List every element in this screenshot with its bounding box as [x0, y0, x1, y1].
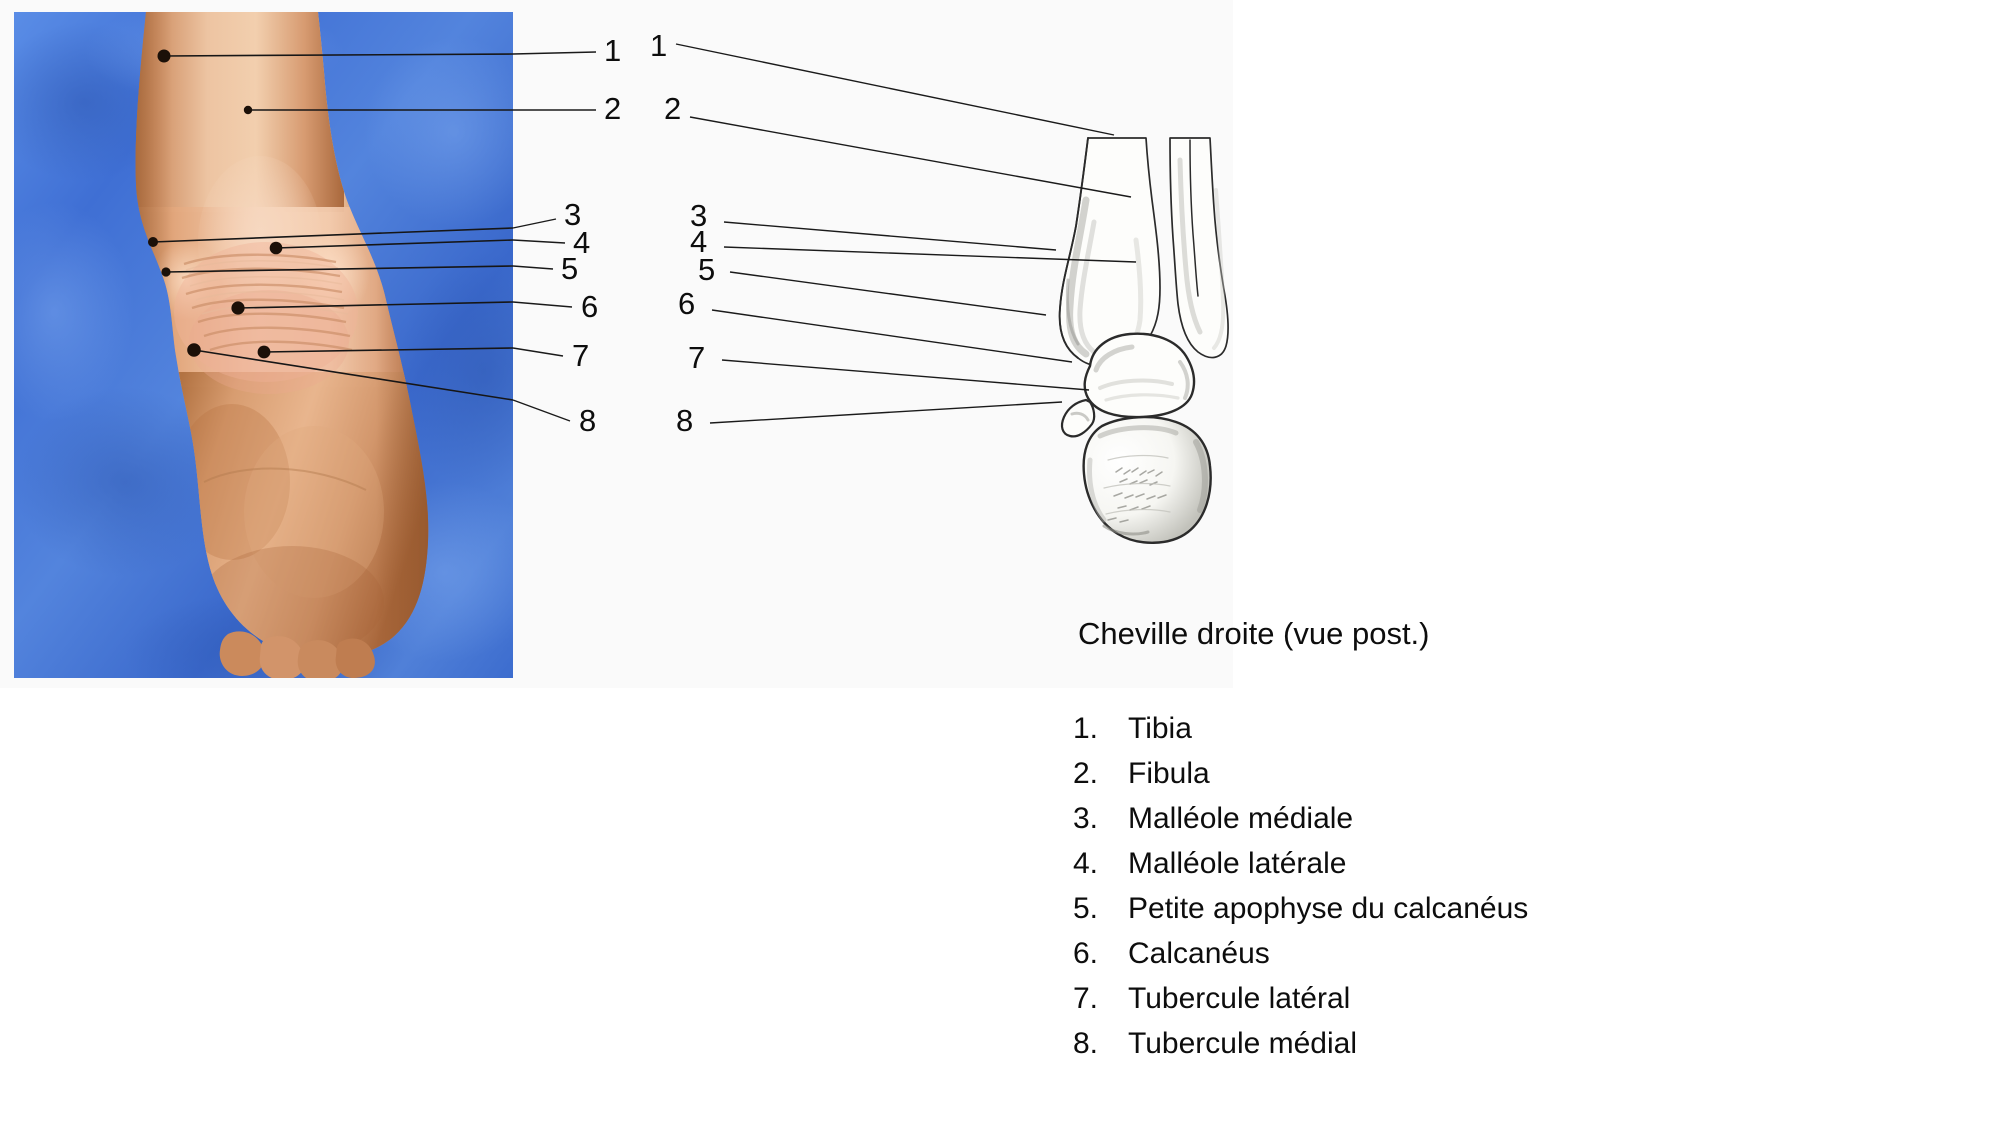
legend-number-6: 6. — [1073, 937, 1128, 971]
legend-label-2: Fibula — [1128, 757, 1893, 791]
legend-number-4: 4. — [1073, 847, 1128, 881]
legend-label-3: Malléole médiale — [1128, 802, 1893, 836]
legend-item-2: 2. Fibula — [1073, 757, 1893, 802]
ankle-photograph — [14, 12, 513, 678]
legend-number-2: 2. — [1073, 757, 1128, 791]
photo-dot-8 — [187, 343, 201, 357]
photo-dot-5 — [161, 267, 170, 276]
sustentaculum-tali — [1062, 400, 1094, 436]
legend-label-8: Tubercule médial — [1128, 1027, 1893, 1061]
photo-number-7: 7 — [572, 340, 589, 371]
legend-item-8: 8. Tubercule médial — [1073, 1027, 1893, 1072]
photo-dot-3 — [148, 237, 158, 247]
photo-number-5: 5 — [561, 253, 578, 284]
legend-number-5: 5. — [1073, 892, 1128, 926]
legend-item-4: 4. Malléole latérale — [1073, 847, 1893, 892]
legend-label-5: Petite apophyse du calcanéus — [1128, 892, 1893, 926]
photo-number-1: 1 — [604, 35, 621, 66]
legend-list: 1. Tibia 2. Fibula 3. Malléole médiale 4… — [1073, 712, 1893, 1072]
photo-dot-7 — [258, 346, 271, 359]
photo-dot-2 — [244, 106, 252, 114]
photo-dot-4 — [270, 242, 283, 255]
figure-caption: Cheville droite (vue post.) — [1078, 616, 1430, 652]
legend-item-7: 7. Tubercule latéral — [1073, 982, 1893, 1027]
legend-item-5: 5. Petite apophyse du calcanéus — [1073, 892, 1893, 937]
photo-dot-1 — [158, 50, 171, 63]
ankle-bone-drawing — [1030, 130, 1250, 545]
legend-item-3: 3. Malléole médiale — [1073, 802, 1893, 847]
legend-number-8: 8. — [1073, 1027, 1128, 1061]
legend-number-7: 7. — [1073, 982, 1128, 1016]
legend-label-7: Tubercule latéral — [1128, 982, 1893, 1016]
drawing-number-6: 6 — [678, 288, 695, 319]
legend-number-3: 3. — [1073, 802, 1128, 836]
drawing-number-1: 1 — [650, 30, 667, 61]
drawing-number-8: 8 — [676, 405, 693, 436]
photo-number-8: 8 — [579, 405, 596, 436]
photo-dot-6 — [231, 301, 244, 314]
legend-label-1: Tibia — [1128, 712, 1893, 746]
legend-item-6: 6. Calcanéus — [1073, 937, 1893, 982]
photo-number-6: 6 — [581, 291, 598, 322]
legend-label-6: Calcanéus — [1128, 937, 1893, 971]
photo-number-2: 2 — [604, 93, 621, 124]
drawing-number-2: 2 — [664, 93, 681, 124]
drawing-number-7: 7 — [688, 342, 705, 373]
legend-number-1: 1. — [1073, 712, 1128, 746]
talus-bone — [1085, 334, 1194, 417]
ankle-photograph-svg — [14, 12, 513, 678]
legend-label-4: Malléole latérale — [1128, 847, 1893, 881]
ankle-bone-drawing-svg — [1030, 130, 1250, 545]
legend-item-1: 1. Tibia — [1073, 712, 1893, 757]
drawing-number-5: 5 — [698, 254, 715, 285]
